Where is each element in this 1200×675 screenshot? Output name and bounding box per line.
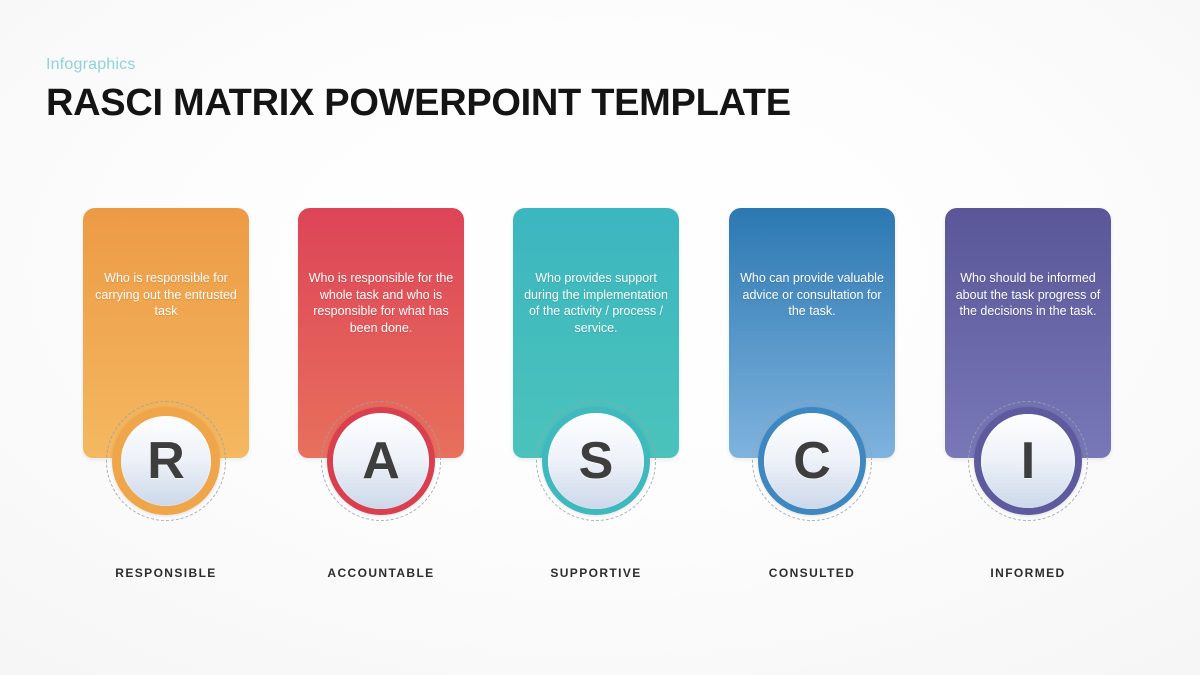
rasci-pin-r[interactable]: Who is responsible for carrying out the … (83, 208, 249, 458)
pin-description: Who is responsible for carrying out the … (91, 270, 241, 320)
rasci-pin-i[interactable]: Who should be informed about the task pr… (945, 208, 1111, 458)
badge-disc: C (764, 413, 860, 509)
badge-letter: S (579, 435, 614, 487)
pin-caption: INFORMED (990, 566, 1065, 580)
pin-badge[interactable]: R (106, 401, 226, 521)
pin-caption: RESPONSIBLE (115, 566, 216, 580)
pin-caption: ACCOUNTABLE (327, 566, 434, 580)
pin-badge[interactable]: A (321, 401, 441, 521)
pin-badge[interactable]: I (968, 401, 1088, 521)
badge-disc: I (981, 414, 1075, 508)
rasci-pin-c[interactable]: Who can provide valuable advice or consu… (729, 208, 895, 458)
badge-letter: I (1021, 435, 1035, 487)
color-ring: C (758, 407, 866, 515)
rasci-pin-row: Who is responsible for carrying out the … (0, 0, 1200, 675)
rasci-pin-s[interactable]: Who provides support during the implemen… (513, 208, 679, 458)
badge-disc: R (121, 416, 211, 506)
pin-badge[interactable]: S (536, 401, 656, 521)
color-ring: S (542, 407, 650, 515)
badge-disc: S (548, 413, 644, 509)
badge-letter: C (793, 435, 831, 487)
color-ring: R (112, 407, 220, 515)
badge-letter: A (362, 435, 400, 487)
pin-badge[interactable]: C (752, 401, 872, 521)
rasci-pin-a[interactable]: Who is responsible for the whole task an… (298, 208, 464, 458)
pin-description: Who provides support during the implemen… (521, 270, 671, 336)
badge-disc: A (333, 413, 429, 509)
badge-letter: R (147, 435, 185, 487)
pin-caption: SUPPORTIVE (550, 566, 641, 580)
pin-caption: CONSULTED (769, 566, 855, 580)
slide-canvas: Infographics RASCI MATRIX POWERPOINT TEM… (0, 0, 1200, 675)
pin-description: Who is responsible for the whole task an… (306, 270, 456, 336)
color-ring: I (974, 407, 1082, 515)
pin-description: Who can provide valuable advice or consu… (737, 270, 887, 320)
pin-description: Who should be informed about the task pr… (953, 270, 1103, 320)
color-ring: A (327, 407, 435, 515)
